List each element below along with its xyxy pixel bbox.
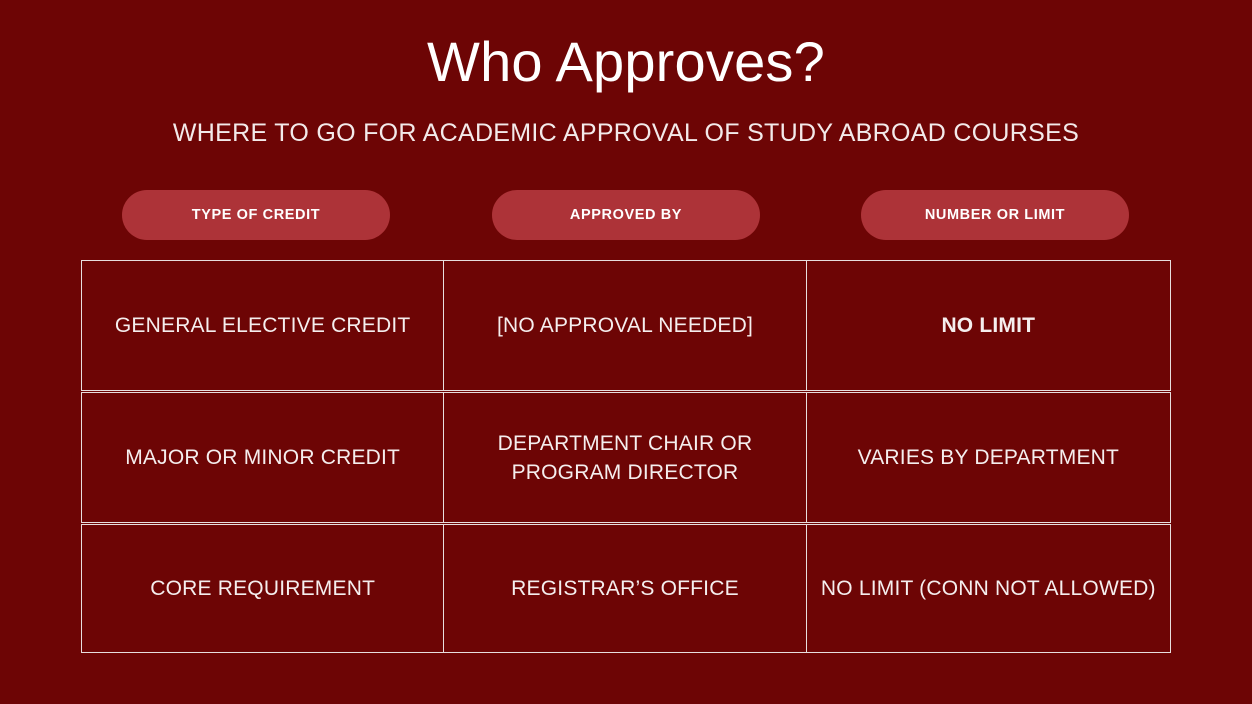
cell-approved-by: REGISTRAR’S OFFICE <box>443 525 806 652</box>
table-row: GENERAL ELECTIVE CREDIT [NO APPROVAL NEE… <box>81 260 1171 391</box>
column-header-pill-type-of-credit: TYPE OF CREDIT <box>122 190 390 240</box>
column-header-pill-approved-by: APPROVED BY <box>492 190 760 240</box>
page-subtitle: WHERE TO GO FOR ACADEMIC APPROVAL OF STU… <box>0 117 1252 149</box>
column-header-pills: TYPE OF CREDIT APPROVED BY NUMBER OR LIM… <box>122 190 1130 240</box>
cell-number-or-limit: NO LIMIT (CONN NOT ALLOWED) <box>807 525 1170 652</box>
column-header-pill-number-or-limit: NUMBER OR LIMIT <box>861 190 1129 240</box>
cell-type-of-credit: MAJOR OR MINOR CREDIT <box>82 393 443 522</box>
column-header-label: NUMBER OR LIMIT <box>925 207 1065 223</box>
column-header-label: APPROVED BY <box>570 207 682 223</box>
slide-canvas: Who Approves? WHERE TO GO FOR ACADEMIC A… <box>0 0 1252 704</box>
cell-number-or-limit: VARIES BY DEPARTMENT <box>807 393 1170 522</box>
cell-type-of-credit: CORE REQUIREMENT <box>82 525 443 652</box>
column-header-label: TYPE OF CREDIT <box>192 207 320 223</box>
table-row: MAJOR OR MINOR CREDIT DEPARTMENT CHAIR O… <box>81 392 1171 523</box>
cell-approved-by: DEPARTMENT CHAIR OR PROGRAM DIRECTOR <box>443 393 806 522</box>
table-row: CORE REQUIREMENT REGISTRAR’S OFFICE NO L… <box>81 524 1171 653</box>
approval-table: GENERAL ELECTIVE CREDIT [NO APPROVAL NEE… <box>81 260 1171 653</box>
cell-type-of-credit: GENERAL ELECTIVE CREDIT <box>82 261 443 390</box>
cell-approved-by: [NO APPROVAL NEEDED] <box>443 261 806 390</box>
page-title: Who Approves? <box>0 28 1252 96</box>
cell-number-or-limit: NO LIMIT <box>807 261 1170 390</box>
